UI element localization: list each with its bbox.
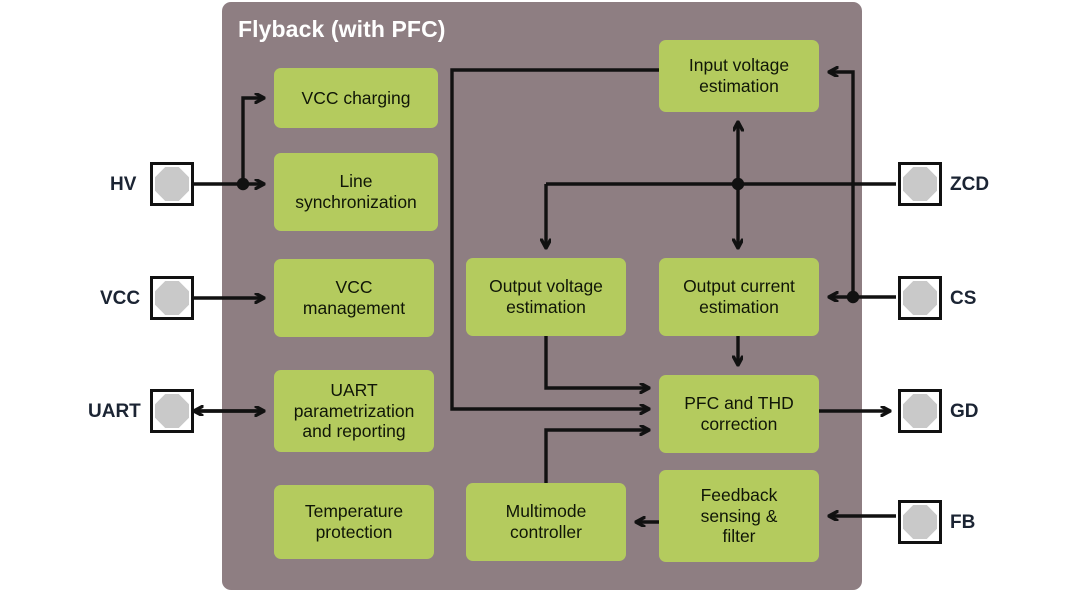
block-output-voltage-est[interactable]: Output voltageestimation — [466, 258, 626, 336]
pin-pad-gd[interactable] — [898, 389, 942, 433]
block-label: Linesynchronization — [295, 171, 417, 212]
block-vcc-management[interactable]: VCCmanagement — [274, 259, 434, 337]
pin-pad-vcc[interactable] — [150, 276, 194, 320]
block-label: Temperatureprotection — [305, 501, 403, 542]
pin-octagon-icon — [903, 505, 937, 539]
block-vcc-charging[interactable]: VCC charging — [274, 68, 438, 128]
pin-label-uart: UART — [88, 401, 141, 423]
pin-octagon-icon — [903, 281, 937, 315]
pin-pad-uart[interactable] — [150, 389, 194, 433]
pin-octagon-icon — [903, 167, 937, 201]
block-label: VCC charging — [302, 88, 411, 109]
block-label: UARTparametrizationand reporting — [294, 380, 415, 442]
block-label: Input voltageestimation — [689, 55, 789, 96]
pin-octagon-icon — [155, 281, 189, 315]
block-label: Multimodecontroller — [506, 501, 587, 542]
pin-octagon-icon — [155, 167, 189, 201]
block-label: Output voltageestimation — [489, 276, 603, 317]
block-temperature-prot[interactable]: Temperatureprotection — [274, 485, 434, 559]
block-feedback-sensing[interactable]: Feedbacksensing &filter — [659, 470, 819, 562]
block-uart-param[interactable]: UARTparametrizationand reporting — [274, 370, 434, 452]
pin-label-fb: FB — [950, 512, 975, 534]
block-input-voltage-est[interactable]: Input voltageestimation — [659, 40, 819, 112]
pin-label-vcc: VCC — [100, 288, 140, 310]
block-label: PFC and THDcorrection — [684, 393, 794, 434]
pin-label-zcd: ZCD — [950, 174, 989, 196]
pin-pad-hv[interactable] — [150, 162, 194, 206]
pin-pad-cs[interactable] — [898, 276, 942, 320]
block-label: Output currentestimation — [683, 276, 795, 317]
block-label: Feedbacksensing &filter — [701, 485, 778, 547]
block-label: VCCmanagement — [303, 277, 405, 318]
pin-octagon-icon — [155, 394, 189, 428]
block-output-current-est[interactable]: Output currentestimation — [659, 258, 819, 336]
block-line-sync[interactable]: Linesynchronization — [274, 153, 438, 231]
page-title: Flyback (with PFC) — [238, 16, 446, 43]
block-diagram-canvas: Flyback (with PFC) — [0, 0, 1080, 595]
pin-pad-zcd[interactable] — [898, 162, 942, 206]
block-pfc-thd-correction[interactable]: PFC and THDcorrection — [659, 375, 819, 453]
pin-label-hv: HV — [110, 174, 136, 196]
pin-label-gd: GD — [950, 401, 979, 423]
pin-octagon-icon — [903, 394, 937, 428]
pin-pad-fb[interactable] — [898, 500, 942, 544]
pin-label-cs: CS — [950, 288, 976, 310]
block-multimode-controller[interactable]: Multimodecontroller — [466, 483, 626, 561]
